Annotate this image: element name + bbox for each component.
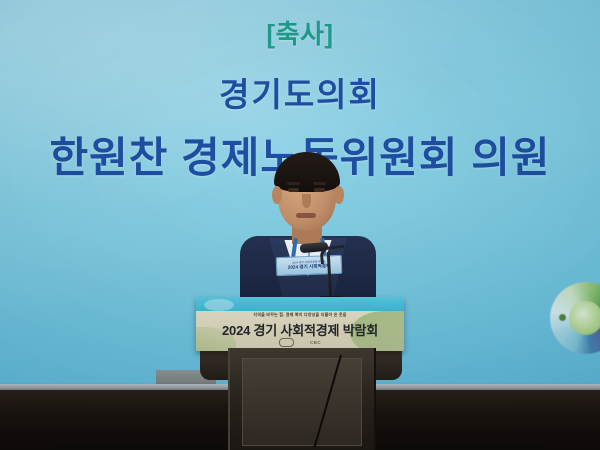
podium-sign-title: 2024 경기 사회적경제 박람회 — [196, 320, 404, 339]
speaker-ear-left — [272, 186, 282, 204]
speaker-nose — [302, 194, 311, 208]
podium-shoulder-left — [200, 350, 230, 380]
speaker-ear-right — [334, 186, 344, 204]
podium-shoulder-right — [372, 350, 402, 380]
emblem-core — [569, 301, 600, 335]
podium-sign-logos: CBC — [196, 338, 404, 347]
podium-sign-top-wave — [204, 299, 234, 311]
microphone-gooseneck — [319, 245, 346, 265]
emblem-dot-left — [559, 314, 566, 321]
podium-body — [228, 348, 376, 450]
podium-sign-top-strip — [196, 297, 404, 311]
speaker-mouth — [296, 213, 316, 218]
speaker-eye-right — [314, 188, 325, 192]
podium-front-panel — [242, 358, 362, 446]
speaker-hair — [274, 152, 340, 192]
speaker-brow-left — [287, 182, 300, 185]
podium-sign-tagline: 지역을 바꾸는 힘, 경제 복지 다양성을 더불어 온 웃음 — [196, 312, 404, 318]
photo-frame: [축사] 경기도의회 한원찬 경제노동위원회 의원 2024 경기 — [0, 0, 600, 450]
podium-sign: 지역을 바꾸는 힘, 경제 복지 다양성을 더불어 온 웃음 2024 경기 사… — [196, 297, 404, 351]
sponsor-wordmark: CBC — [310, 340, 321, 345]
sponsor-pill-icon — [279, 338, 294, 347]
speaker-eye-left — [288, 188, 299, 192]
speaker-brow-right — [313, 182, 326, 185]
slide-organization: 경기도의회 — [0, 68, 600, 116]
slide-kicker: [축사] — [0, 14, 600, 51]
